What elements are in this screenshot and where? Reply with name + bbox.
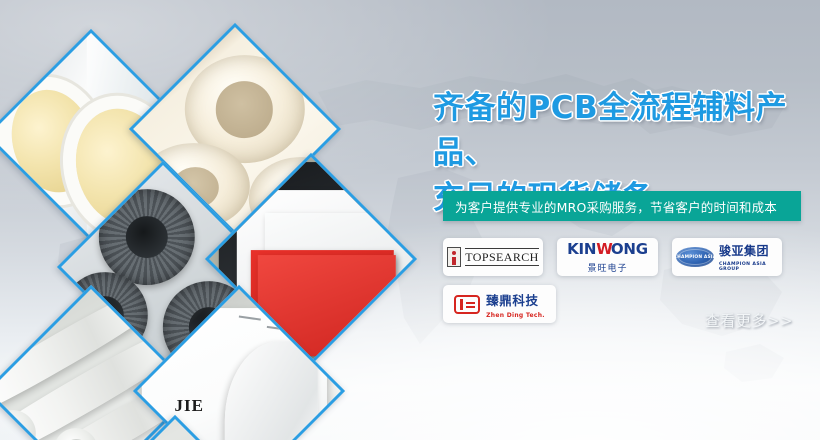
kinwong-name-part1: KIN bbox=[567, 240, 596, 258]
product-photo-collage: JIE bbox=[0, 16, 422, 440]
champion-asia-name-en: CHAMPION ASIA GROUP bbox=[719, 262, 778, 272]
globe-icon: CHAMPION ASIA bbox=[676, 247, 714, 267]
kinwong-name-cn: 景旺电子 bbox=[587, 261, 627, 274]
label-text: JIE bbox=[174, 396, 203, 416]
banner-subtitle-bar: 为客户提供专业的MRO采购服务，节省客户的时间和成本 bbox=[443, 191, 801, 221]
partner-logo-row: TOPSEARCH KINWONG 景旺电子 CHAMPION ASIA bbox=[443, 238, 818, 276]
champion-asia-lockup: CHAMPION ASIA 骏亚集团 CHAMPION ASIA GROUP bbox=[672, 242, 782, 272]
promo-banner: JIE 齐备的PCB全流程辅料产品、 充足的现货储备 为客户提供专业的MRO采购… bbox=[0, 0, 820, 440]
champion-asia-wordmark: 骏亚集团 CHAMPION ASIA GROUP bbox=[719, 242, 778, 272]
topsearch-mark-icon bbox=[447, 247, 461, 267]
topsearch-wordmark: TOPSEARCH bbox=[465, 248, 538, 266]
partner-logo-zhen-ding[interactable]: 臻鼎科技 Zhen Ding Tech. bbox=[443, 285, 556, 323]
zhen-ding-mark-icon bbox=[454, 295, 480, 314]
kinwong-lockup: KINWONG 景旺电子 bbox=[567, 240, 648, 274]
banner-subtitle-text: 为客户提供专业的MRO采购服务，节省客户的时间和成本 bbox=[443, 197, 777, 216]
kinwong-accent-letter: W bbox=[596, 240, 611, 258]
kinwong-wordmark: KINWONG bbox=[567, 240, 648, 258]
zhen-ding-wordmark: 臻鼎科技 Zhen Ding Tech. bbox=[486, 290, 545, 319]
view-more-link[interactable]: 查看更多>> bbox=[705, 310, 793, 331]
zhen-ding-name-en: Zhen Ding Tech. bbox=[486, 312, 545, 319]
partner-logo-kinwong[interactable]: KINWONG 景旺电子 bbox=[557, 238, 658, 276]
zhen-ding-lockup: 臻鼎科技 Zhen Ding Tech. bbox=[449, 290, 550, 319]
banner-content: 齐备的PCB全流程辅料产品、 充足的现货储备 为客户提供专业的MRO采购服务，节… bbox=[430, 0, 820, 440]
partner-logo-topsearch[interactable]: TOPSEARCH bbox=[443, 238, 543, 276]
topsearch-lockup: TOPSEARCH bbox=[442, 247, 543, 267]
champion-asia-name-cn: 骏亚集团 bbox=[719, 242, 778, 259]
topsearch-name: TOPSEARCH bbox=[465, 249, 538, 265]
topsearch-rule bbox=[465, 265, 538, 266]
kinwong-name-part2: ONG bbox=[611, 240, 648, 258]
champion-asia-globe-text: CHAMPION ASIA bbox=[674, 255, 717, 260]
partner-logo-champion-asia[interactable]: CHAMPION ASIA 骏亚集团 CHAMPION ASIA GROUP bbox=[672, 238, 782, 276]
zhen-ding-name-cn: 臻鼎科技 bbox=[486, 290, 545, 309]
